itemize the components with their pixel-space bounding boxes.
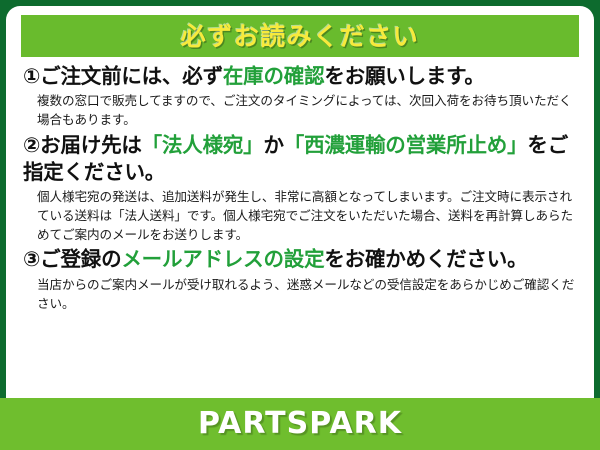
item-2-marker: ②	[23, 132, 40, 159]
item-2-heading-part-3: か	[263, 133, 283, 157]
notice-item-3: ③ご登録のメールアドレスの設定をお確かめください。 当店からのご案内メールが受け…	[23, 246, 577, 313]
notice-item-list: ①ご注文前には、必ず在庫の確認をお願いします。 複数の窓口で販売してますので、ご…	[21, 57, 579, 313]
partspark-logo: PARTSPARK	[198, 409, 402, 439]
notice-header-band: 必ずお読みください	[21, 15, 579, 57]
footer-brand-band: PARTSPARK	[0, 398, 600, 450]
item-3-note: 当店からのご案内メールが受け取れるよう、迷惑メールなどの受信設定をあらかじめご確…	[37, 275, 577, 313]
item-2-note: 個人様宅宛の発送は、追加送料が発生し、非常に高額となってしまいます。ご注文時に表…	[37, 187, 577, 244]
item-1-heading: ①ご注文前には、必ず在庫の確認をお願いします。	[23, 63, 577, 90]
page-title: 必ずお読みください	[181, 24, 420, 49]
item-2-heading-highlight-2: 「西濃運輸の営業所止め」	[284, 133, 528, 157]
item-1-heading-part-1: ご注文前には、必ず	[40, 64, 223, 88]
item-3-heading-part-3: をお確かめください。	[324, 247, 527, 271]
item-3-heading-part-1: ご登録の	[40, 247, 121, 271]
item-1-note: 複数の窓口で販売してますので、ご注文のタイミングによっては、次回入荷をお待ち頂い…	[37, 91, 577, 129]
item-1-heading-part-3: をお願いします。	[324, 64, 484, 88]
item-3-heading-highlight: メールアドレスの設定	[121, 247, 324, 271]
item-3-marker: ③	[23, 246, 40, 273]
notice-card: 必ずお読みください ①ご注文前には、必ず在庫の確認をお願いします。 複数の窓口で…	[0, 0, 600, 450]
item-1-marker: ①	[23, 63, 40, 90]
item-1-heading-highlight: 在庫の確認	[223, 64, 325, 88]
notice-item-1: ①ご注文前には、必ず在庫の確認をお願いします。 複数の窓口で販売してますので、ご…	[23, 63, 577, 130]
item-2-heading: ②お届け先は「法人様宛」か「西濃運輸の営業所止め」をご指定ください。	[23, 132, 577, 187]
notice-item-2: ②お届け先は「法人様宛」か「西濃運輸の営業所止め」をご指定ください。 個人様宅宛…	[23, 132, 577, 245]
item-2-heading-highlight-1: 「法人様宛」	[142, 133, 264, 157]
notice-body: 必ずお読みください ①ご注文前には、必ず在庫の確認をお願いします。 複数の窓口で…	[6, 6, 594, 398]
item-2-heading-part-1: お届け先は	[40, 133, 142, 157]
item-3-heading: ③ご登録のメールアドレスの設定をお確かめください。	[23, 246, 577, 273]
